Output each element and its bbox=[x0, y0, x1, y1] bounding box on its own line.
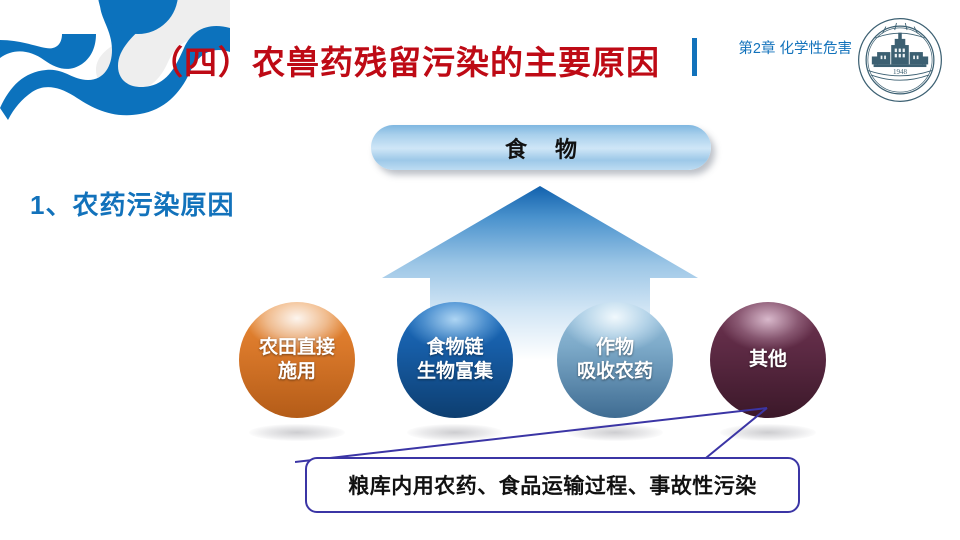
node-label: 作物 吸收农药 bbox=[573, 336, 657, 384]
food-banner-label: 食 物 bbox=[494, 132, 588, 164]
diagram-node-food-chain[interactable]: 食物链 生物富集 bbox=[397, 302, 513, 418]
food-banner[interactable]: 食 物 bbox=[371, 125, 711, 170]
blob-circle bbox=[98, 0, 178, 34]
chapter-tag-label: 第2章 化学性危害 bbox=[711, 38, 852, 60]
node-shadow bbox=[720, 424, 816, 441]
blob-wave-lower bbox=[0, 34, 96, 69]
diagram-node-crop-absorption[interactable]: 作物 吸收农药 bbox=[557, 302, 673, 418]
page-title: （四）农兽药残留污染的主要原因 bbox=[150, 36, 650, 84]
chapter-tag: 第2章 化学性危害 bbox=[692, 38, 852, 76]
diagram-node-farmland-application[interactable]: 农田直接 施用 bbox=[239, 302, 355, 418]
callout-text: 粮库内用农药、食品运输过程、事故性污染 bbox=[348, 470, 757, 500]
diagram-node-other[interactable]: 其他 bbox=[710, 302, 826, 418]
university-seal-icon: 1948 bbox=[856, 16, 944, 104]
node-shadow bbox=[407, 424, 503, 441]
node-shadow bbox=[567, 424, 663, 441]
node-label: 农田直接 施用 bbox=[255, 336, 339, 384]
slide-canvas: （四）农兽药残留污染的主要原因 第2章 化学性危害 bbox=[0, 0, 960, 540]
section-heading: 1、农药污染原因 bbox=[30, 185, 234, 222]
callout-box[interactable]: 粮库内用农药、食品运输过程、事故性污染 bbox=[305, 457, 800, 513]
chapter-accent-bar bbox=[692, 38, 697, 76]
node-shadow bbox=[249, 424, 345, 441]
node-label: 其他 bbox=[745, 348, 791, 372]
seal-year: 1948 bbox=[893, 68, 908, 76]
node-label: 食物链 生物富集 bbox=[413, 336, 497, 384]
